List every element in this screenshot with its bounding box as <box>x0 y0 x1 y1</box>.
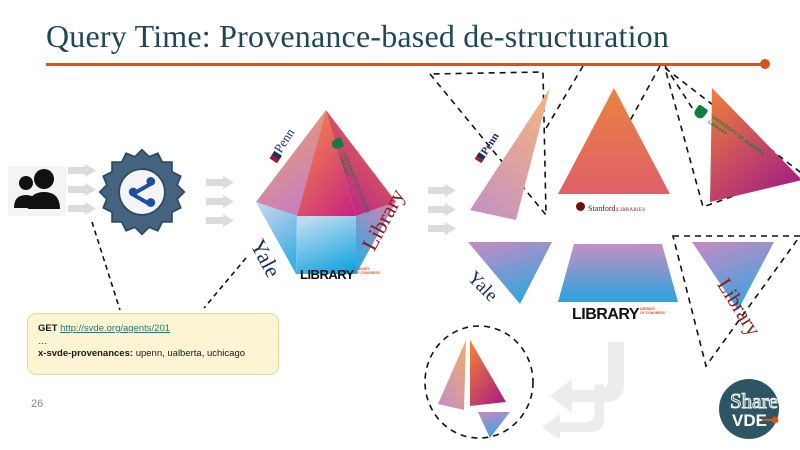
http-request-line: GET http://svde.org/agents/201 <box>38 322 268 337</box>
sharevde-share-text: Share <box>730 389 778 413</box>
alberta-shield-icon <box>331 137 345 150</box>
stanford-facet-logo: Stanford|LIBRARIES <box>576 198 645 216</box>
http-url-link[interactable]: http://svde.org/agents/201 <box>60 323 170 334</box>
slide-canvas: Query Time: Provenance-based de-structur… <box>0 0 800 450</box>
http-method: GET <box>38 323 58 334</box>
stanford-facet <box>558 88 670 196</box>
curved-arrows <box>530 338 630 438</box>
gem-label-library-of-congress: LIBRARYLIBRARYOF CONGRESS <box>300 266 380 284</box>
stanford-sub: |LIBRARIES <box>616 208 646 213</box>
reassembly-fragments <box>424 326 534 438</box>
loc-facet <box>558 244 678 302</box>
arrows-gear-to-gem <box>206 176 236 233</box>
sharevde-logo: Share VDE <box>718 378 780 440</box>
users-icon <box>8 166 66 216</box>
http-provenance-header: x-svde-provenances: upenn, ualberta, uch… <box>38 347 268 362</box>
page-number: 26 <box>31 398 43 410</box>
arrows-gem-to-exploded <box>428 184 458 241</box>
loc-facet-logo: LIBRARYLIBRARYOF CONGRESS <box>572 306 665 324</box>
title-accent-line <box>46 63 766 66</box>
stanford-seal-icon <box>576 202 585 211</box>
http-header-values: upenn, ualberta, uchicago <box>136 348 245 359</box>
loc-facet-sub: LIBRARYOF CONGRESS <box>640 308 665 316</box>
title-accent-dot <box>760 59 770 69</box>
page-title: Query Time: Provenance-based de-structur… <box>46 18 669 55</box>
http-ellipsis: … <box>38 337 268 347</box>
http-request-box: GET http://svde.org/agents/201 … x-svde-… <box>27 313 279 375</box>
loc-sub-text: LIBRARYOF CONGRESS <box>355 268 380 276</box>
alberta-shield-icon-2 <box>693 104 709 120</box>
gear-share-icon <box>98 148 186 236</box>
arrows-users-to-gear <box>68 164 98 221</box>
http-header-name: x-svde-provenances: <box>38 348 133 359</box>
sharevde-vde-text: VDE <box>732 411 767 430</box>
